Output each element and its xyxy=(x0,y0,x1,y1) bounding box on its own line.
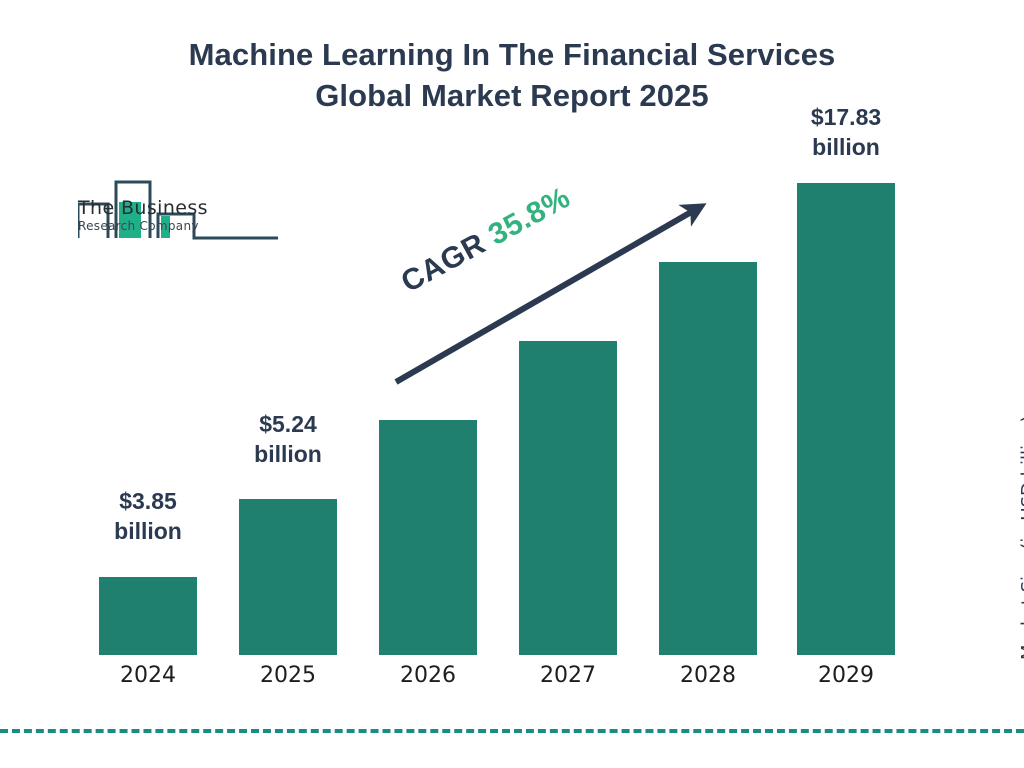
bar-value-2025-unit: billion xyxy=(223,439,353,469)
x-tick-2024: 2024 xyxy=(83,662,213,690)
x-tick-2029: 2029 xyxy=(781,662,911,690)
bar-value-2029-amount: $17.83 xyxy=(781,102,911,132)
cagr-annotation: CAGR 35.8% xyxy=(396,181,576,300)
bar-value-2025-amount: $5.24 xyxy=(223,409,353,439)
x-tick-2028: 2028 xyxy=(643,662,773,690)
x-tick-2027: 2027 xyxy=(503,662,633,690)
bar-value-2024-unit: billion xyxy=(83,516,213,546)
brand-logo-text: The Business Research Company xyxy=(78,198,208,233)
bar-2027 xyxy=(519,341,617,655)
bar-chart: $3.85 billion $5.24 billion $17.83 billi… xyxy=(0,0,1024,768)
y-axis-label: Market Size (in USD billion) xyxy=(1018,330,1024,660)
bar-2026 xyxy=(379,420,477,655)
cagr-label: CAGR xyxy=(396,227,491,299)
x-tick-2025: 2025 xyxy=(223,662,353,690)
bar-value-2029-unit: billion xyxy=(781,132,911,162)
bar-value-2025: $5.24 billion xyxy=(223,409,353,469)
cagr-value: 35.8% xyxy=(483,181,576,252)
footer-divider xyxy=(0,729,1024,733)
bar-2029 xyxy=(797,183,895,655)
x-tick-2026: 2026 xyxy=(363,662,493,690)
brand-logo-line-1: The Business xyxy=(78,198,208,218)
brand-logo-line-2: Research Company xyxy=(78,219,208,233)
bar-value-2024-amount: $3.85 xyxy=(83,486,213,516)
bar-2025 xyxy=(239,499,337,655)
bar-2024 xyxy=(99,577,197,655)
bar-value-2024: $3.85 billion xyxy=(83,486,213,546)
bar-value-2029: $17.83 billion xyxy=(781,102,911,162)
bar-2028 xyxy=(659,262,757,655)
